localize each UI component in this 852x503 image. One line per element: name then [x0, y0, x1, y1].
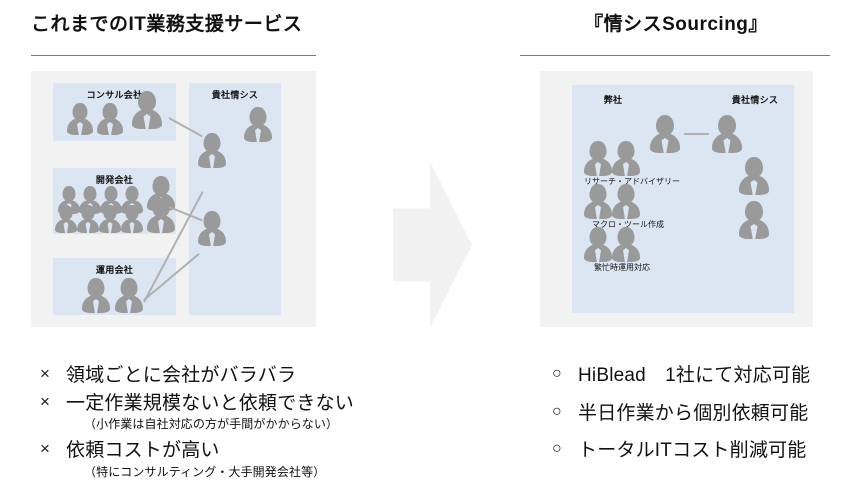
- cross-icon: ×: [40, 438, 66, 461]
- left-diagram-canvas: コンサル会社 開発会社: [31, 71, 316, 327]
- right-bullet-list: ○ HiBlead 1社にて対応可能 ○ 半日作業から個別依頼可能 ○ トータル…: [500, 363, 852, 476]
- person-icon: [55, 205, 77, 233]
- list-item-label: 一定作業規模ないと依頼できない: [66, 391, 354, 417]
- diagram-box-client-is-label: 貴社情シス: [189, 88, 281, 101]
- list-item-sublabel: （特にコンサルティング・大手開発会社等）: [84, 465, 440, 481]
- list-item-label: 半日作業から個別依頼可能: [578, 401, 808, 427]
- circle-icon: ○: [552, 363, 578, 385]
- person-icon: [712, 115, 742, 153]
- diagram-box-consulting: コンサル会社: [53, 83, 176, 141]
- person-icon: [739, 201, 769, 239]
- left-title: これまでのIT業務支援サービス: [0, 14, 302, 37]
- column-label-client: 貴社情シス: [644, 93, 852, 106]
- diagram-box-client-is: 貴社情シス: [189, 83, 281, 315]
- person-icon: [67, 103, 93, 135]
- person-icon: [612, 184, 640, 219]
- list-item: × 領域ごとに会社がバラバラ: [40, 363, 440, 389]
- list-item: × 依頼コストが高い: [40, 438, 440, 464]
- person-icon: [612, 227, 640, 262]
- person-icon: [121, 205, 143, 233]
- person-icon: [115, 278, 143, 313]
- person-icon: [97, 103, 123, 135]
- list-item: ○ トータルITコスト削減可能: [552, 438, 852, 464]
- person-icon: [132, 91, 162, 129]
- list-item: ○ 半日作業から個別依頼可能: [552, 401, 852, 427]
- person-icon: [147, 198, 175, 233]
- person-icon: [584, 141, 612, 176]
- person-icon: [77, 205, 99, 233]
- service-row-label-busy: 繁忙時運用対応: [594, 262, 650, 273]
- diagram-box-development: 開発会社: [53, 168, 176, 234]
- circle-icon: ○: [552, 401, 578, 423]
- right-arrow-icon: [393, 162, 472, 328]
- left-title-divider: [31, 55, 316, 56]
- left-bullet-list: × 領域ごとに会社がバラバラ × 一定作業規模ないと依頼できない （小作業は自社…: [0, 363, 440, 485]
- left-panel: これまでのIT業務支援サービス コンサル会社 開発会社: [0, 0, 400, 503]
- list-item-sublabel: （小作業は自社対応の方が手間がかからない）: [84, 417, 440, 433]
- person-icon: [584, 184, 612, 219]
- list-item-label: HiBlead 1社にて対応可能: [578, 363, 810, 389]
- right-diagram-canvas: 弊社 貴社情シス リサーチ・アドバイザリー マクロ・ツール作成 繁忙時運用対応: [540, 71, 813, 327]
- diagram-box-sourcing: 弊社 貴社情シス リサーチ・アドバイザリー マクロ・ツール作成 繁忙時運用対応: [572, 85, 794, 313]
- list-item-label: 領域ごとに会社がバラバラ: [66, 363, 296, 389]
- person-icon: [244, 107, 272, 142]
- list-item-label: 依頼コストが高い: [66, 438, 220, 464]
- cross-icon: ×: [40, 391, 66, 414]
- list-item-label: トータルITコスト削減可能: [578, 438, 807, 464]
- right-panel: 『情シスSourcing』 弊社 貴社情シス リサーチ・アドバイザリー マクロ・…: [500, 0, 852, 503]
- right-title-divider: [520, 55, 830, 56]
- person-icon: [198, 133, 226, 168]
- right-title: 『情シスSourcing』: [500, 14, 852, 37]
- person-icon: [198, 211, 226, 246]
- list-item: × 一定作業規模ないと依頼できない: [40, 391, 440, 417]
- person-icon: [612, 141, 640, 176]
- connector-line: [684, 133, 709, 135]
- person-icon: [739, 157, 769, 195]
- list-item: ○ HiBlead 1社にて対応可能: [552, 363, 852, 389]
- person-icon: [584, 227, 612, 262]
- person-icon: [99, 205, 121, 233]
- person-icon: [82, 278, 110, 313]
- cross-icon: ×: [40, 363, 66, 386]
- circle-icon: ○: [552, 438, 578, 460]
- person-icon: [650, 115, 680, 153]
